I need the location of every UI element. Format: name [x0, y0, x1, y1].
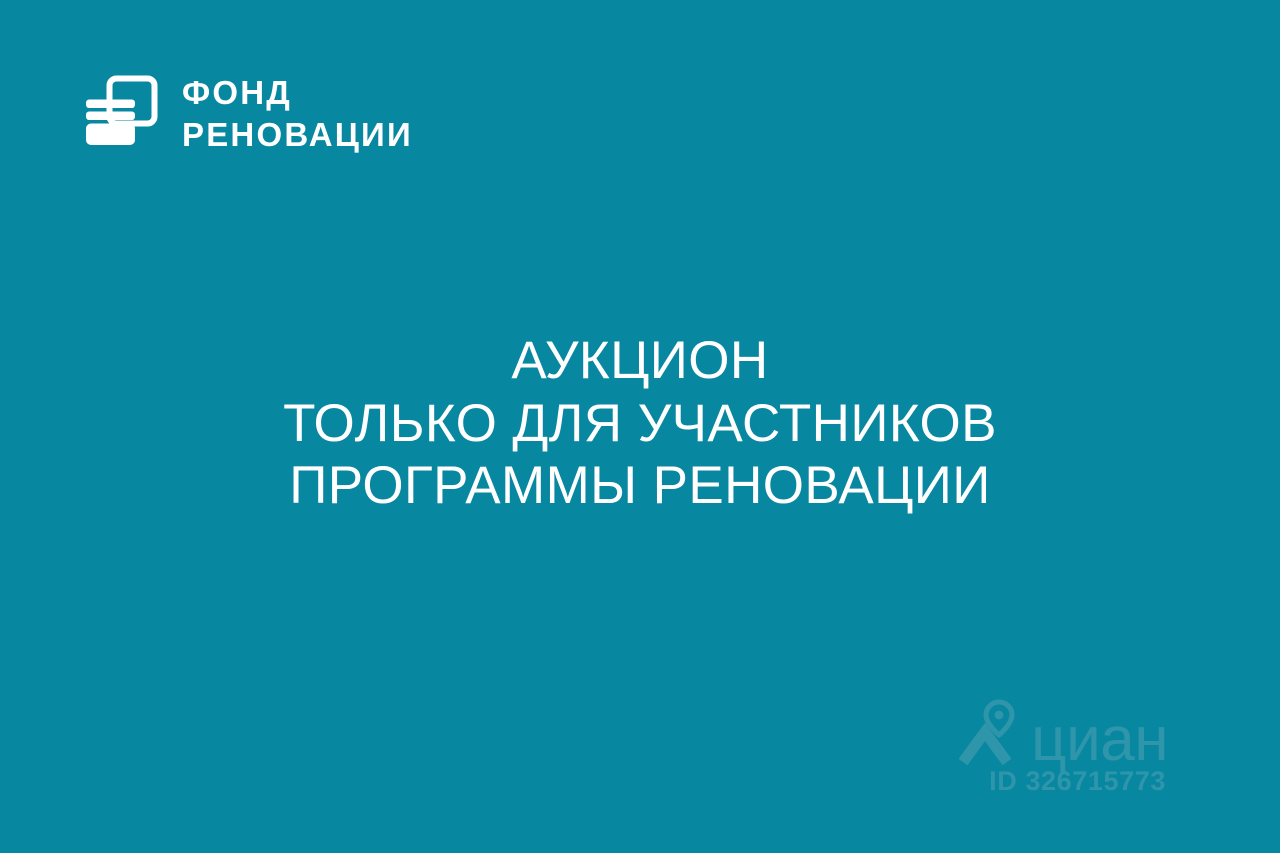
- headline-line-2: ТОЛЬКО ДЛЯ УЧАСТНИКОВ: [0, 393, 1280, 456]
- cian-wordmark: циан: [1031, 715, 1168, 766]
- headline: АУКЦИОН ТОЛЬКО ДЛЯ УЧАСТНИКОВ ПРОГРАММЫ …: [0, 330, 1280, 518]
- headline-line-3: ПРОГРАММЫ РЕНОВАЦИИ: [0, 455, 1280, 518]
- stacked-cards-building-icon: [80, 72, 162, 154]
- brand-line-1: ФОНД: [182, 76, 413, 109]
- brand-lockup: ФОНД РЕНОВАЦИИ: [80, 72, 413, 154]
- headline-line-1: АУКЦИОН: [0, 330, 1280, 393]
- cian-watermark: циан ID 326715773: [959, 698, 1168, 795]
- auction-banner: ФОНД РЕНОВАЦИИ АУКЦИОН ТОЛЬКО ДЛЯ УЧАСТН…: [0, 0, 1280, 853]
- listing-id: ID 326715773: [989, 768, 1166, 795]
- cian-pin-chevron-icon: [959, 698, 1027, 766]
- brand-wordmark: ФОНД РЕНОВАЦИИ: [182, 76, 413, 151]
- brand-line-2: РЕНОВАЦИИ: [182, 118, 413, 151]
- cian-logo: циан: [959, 698, 1168, 766]
